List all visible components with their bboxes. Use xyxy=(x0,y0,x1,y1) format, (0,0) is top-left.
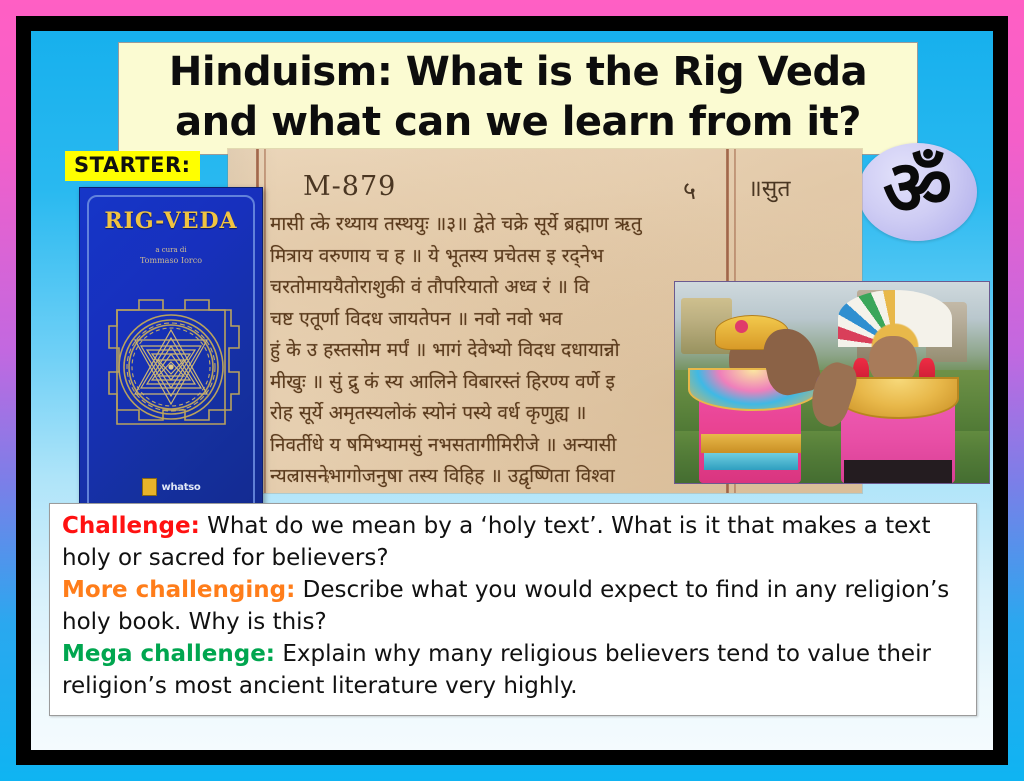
manuscript-line: मासी त्के रथ्याय तस्थयुः ॥३॥ द्वेते चक्र… xyxy=(270,209,858,241)
more-challenging-label: More challenging: xyxy=(62,577,295,603)
dancer-right-waistband xyxy=(844,460,953,483)
book-subtitle-editor-prefix: a cura di xyxy=(80,246,262,254)
book-logo-text: whatso xyxy=(162,482,201,493)
manuscript-bottom-mark: १ xyxy=(324,470,330,487)
dancer-left xyxy=(688,318,826,483)
book-subtitle-editor-name: Tommaso Iorco xyxy=(80,256,262,265)
title-line-1: Hinduism: What is the Rig Veda xyxy=(169,47,867,97)
challenge-item: Challenge: What do we mean by a ‘holy te… xyxy=(62,510,966,574)
mega-challenge-label: Mega challenge: xyxy=(62,641,275,667)
title-line-2: and what can we learn from it? xyxy=(175,97,861,147)
manuscript-folio-mark: M-879 xyxy=(303,171,396,202)
starter-label: STARTER: xyxy=(65,151,200,181)
om-badge: ॐ xyxy=(858,143,977,241)
rig-veda-book-cover: RIG-VEDA a cura di Tommaso Iorco xyxy=(79,187,263,523)
challenge-item: Mega challenge: Explain why many religio… xyxy=(62,638,966,702)
balinese-dancers-photo xyxy=(674,281,990,484)
manuscript-right-fragment: ॥सुत xyxy=(748,171,790,203)
challenge-label: Challenge: xyxy=(62,513,200,539)
publisher-mark-icon xyxy=(142,478,157,496)
dancer-left-belt xyxy=(704,453,798,469)
slide-root: Hinduism: What is the Rig Veda and what … xyxy=(0,0,1024,781)
manuscript-page-number: ५ xyxy=(683,173,696,207)
sri-yantra-icon xyxy=(95,276,247,458)
slide-canvas: Hinduism: What is the Rig Veda and what … xyxy=(31,31,993,750)
book-title: RIG-VEDA xyxy=(80,208,262,234)
om-icon: ॐ xyxy=(883,150,952,226)
book-publisher-logos: whatso xyxy=(80,478,262,496)
challenge-item: More challenging: Describe what you woul… xyxy=(62,574,966,638)
page-title: Hinduism: What is the Rig Veda and what … xyxy=(118,42,918,155)
dancer-right xyxy=(819,294,970,483)
dancer-left-headdress-jewel xyxy=(735,320,749,333)
manuscript-margin-rule-left-2 xyxy=(264,149,266,493)
challenge-text-box: Challenge: What do we mean by a ‘holy te… xyxy=(49,503,977,716)
dancer-left-sash xyxy=(701,434,800,454)
manuscript-line: मित्राय वरुणाय च ह ॥ ये भूतस्य प्रचेतस इ… xyxy=(270,241,858,273)
